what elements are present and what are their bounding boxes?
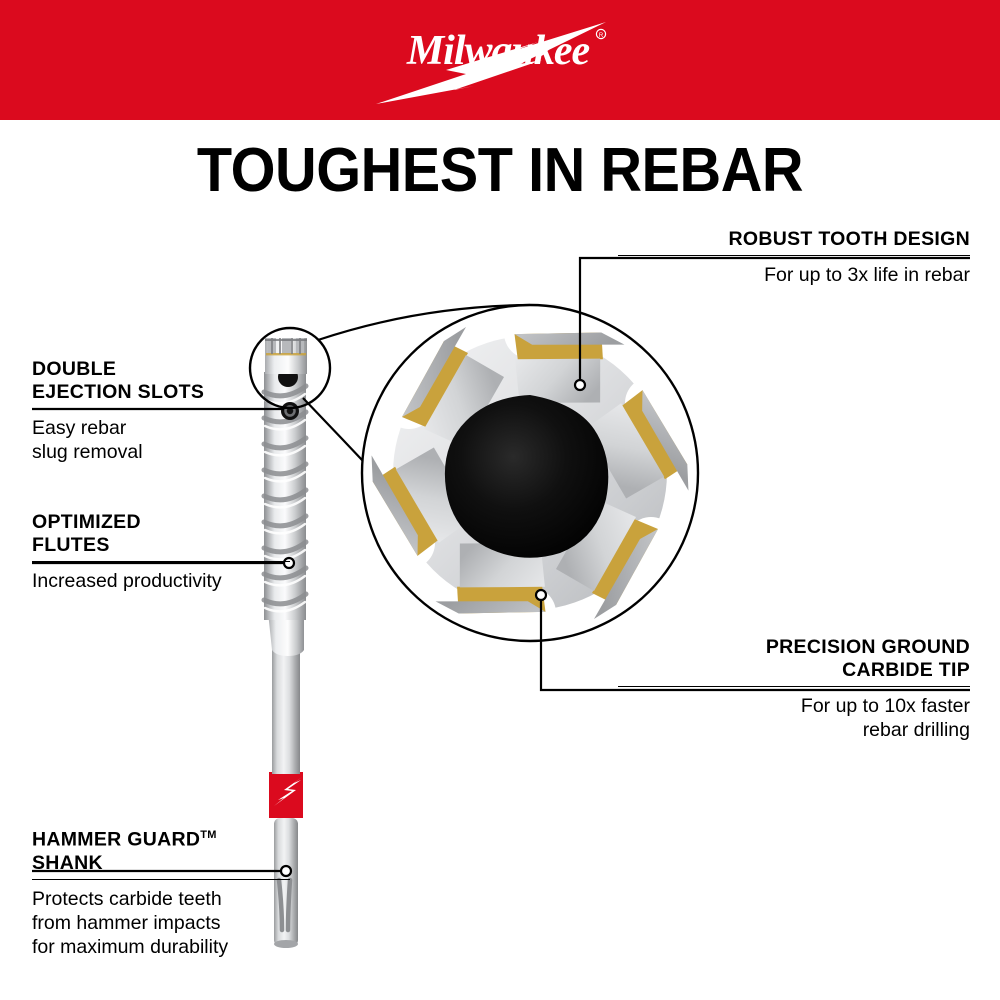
callout-body: Increased productivity: [32, 569, 290, 593]
header-band: Milwaukee R: [0, 0, 1000, 120]
callout-heading-line2: SHANK: [32, 852, 103, 874]
callout-robust-tooth-design: ROBUST TOOTH DESIGN For up to 3x life in…: [618, 228, 970, 287]
magnifier-connector-bottom: [303, 398, 530, 641]
callout-hammer-guard-shank: HAMMER GUARDTMSHANK Protects carbide tee…: [32, 824, 290, 959]
callout-body: For up to 3x life in rebar: [618, 263, 970, 287]
callout-optimized-flutes: OPTIMIZED FLUTES Increased productivity: [32, 511, 290, 593]
callout-body: For up to 10x faster rebar drilling: [618, 694, 970, 742]
milwaukee-lightning-logo-icon: Milwaukee R: [370, 20, 630, 106]
callout-heading: OPTIMIZED FLUTES: [32, 511, 290, 557]
callout-heading: PRECISION GROUND CARBIDE TIP: [618, 636, 970, 682]
callout-rule: [618, 255, 970, 256]
svg-text:R: R: [599, 33, 604, 39]
callout-heading-line1: HAMMER GUARD: [32, 829, 200, 851]
callout-precision-ground-carbide-tip: PRECISION GROUND CARBIDE TIP For up to 1…: [618, 636, 970, 742]
callout-rule: [32, 879, 290, 880]
trademark-symbol: TM: [200, 829, 216, 841]
callout-double-ejection-slots: DOUBLE EJECTION SLOTS Easy rebar slug re…: [32, 358, 290, 464]
magnifier-connector-top: [318, 305, 530, 340]
magnified-tip-circle: [340, 289, 721, 657]
callout-heading: ROBUST TOOTH DESIGN: [618, 228, 970, 251]
callout-rule: [32, 561, 290, 562]
callout-rule: [32, 408, 290, 409]
callout-body: Easy rebar slug removal: [32, 416, 290, 464]
callout-body: Protects carbide teeth from hammer impac…: [32, 887, 290, 959]
callout-heading: HAMMER GUARDTMSHANK: [32, 824, 290, 875]
callout-heading: DOUBLE EJECTION SLOTS: [32, 358, 290, 404]
callout-rule: [618, 686, 970, 687]
page-title: TOUGHEST IN REBAR: [35, 138, 965, 204]
